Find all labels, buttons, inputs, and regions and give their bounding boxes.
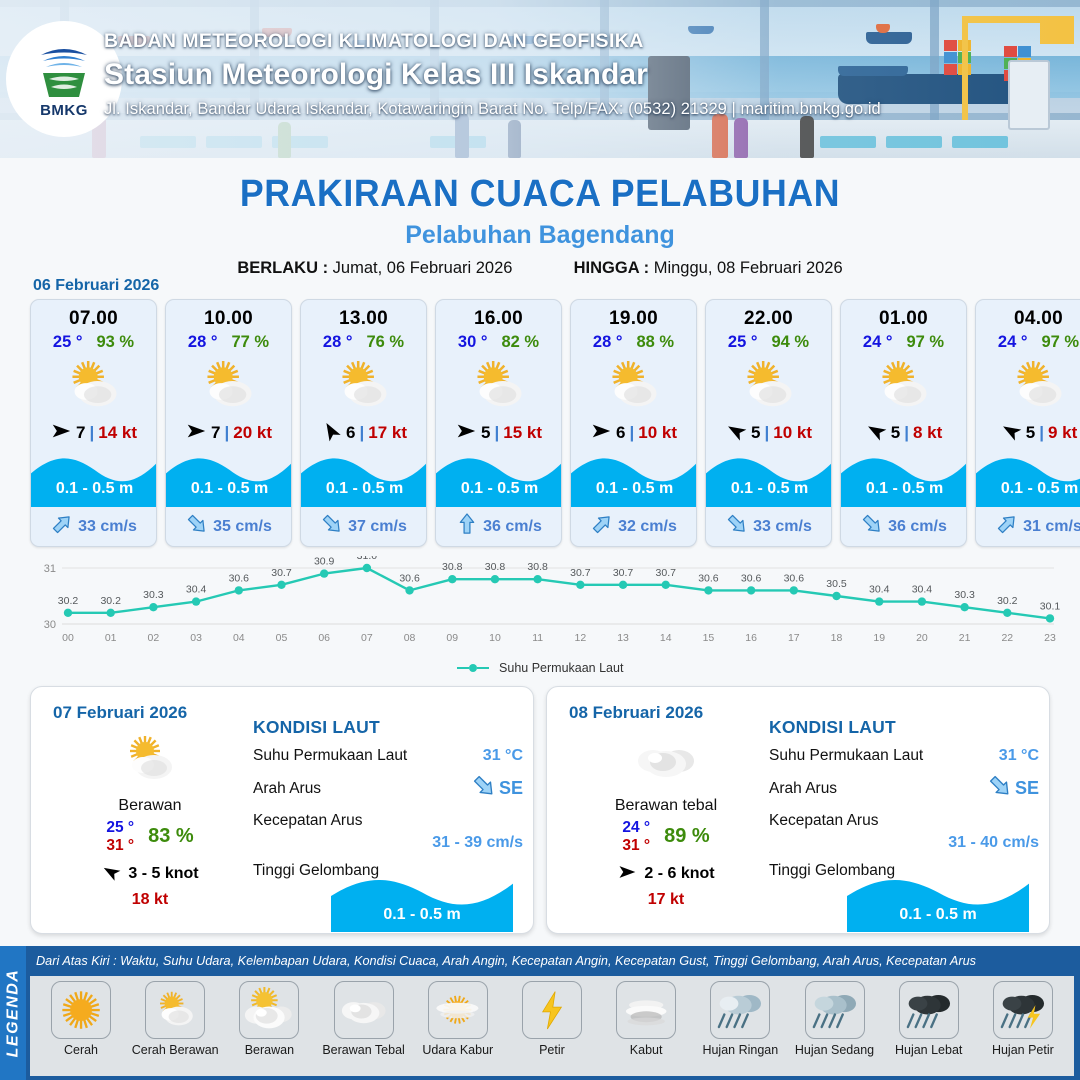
card-humidity: 94 % <box>771 333 809 352</box>
current-speed-value: 31 - 40 cm/s <box>769 834 1039 852</box>
daily-condition: Berawan <box>45 797 255 815</box>
legend-item-label: Udara Kabur <box>413 1043 503 1057</box>
svg-text:30.6: 30.6 <box>229 572 250 584</box>
hourly-card: 19.00 28 ° 88 % 6 | 10 kt 0.1 - 0.5 m 32… <box>570 299 697 547</box>
card-wind-speed: 5 <box>891 423 900 443</box>
card-current-speed: 33 cm/s <box>78 518 137 536</box>
card-temperature: 30 ° <box>458 333 488 352</box>
card-separator: | <box>89 423 94 443</box>
legend-items: Cerah Cerah Berawan Berawan Berawan Teba… <box>30 976 1074 1076</box>
daily-temp-min: 24 ° <box>622 819 650 837</box>
daily-temp-max: 31 ° <box>622 837 650 855</box>
legend-side-label: LEGENDA <box>4 969 22 1058</box>
svg-text:30.8: 30.8 <box>442 561 463 573</box>
card-gust: 14 kt <box>98 423 137 443</box>
legend-item: Berawan <box>224 981 314 1057</box>
sst-value: 31 °C <box>483 747 523 765</box>
legend-side-tab: LEGENDA <box>0 946 26 1080</box>
legend-item-label: Berawan Tebal <box>319 1043 409 1057</box>
hourly-card: 07.00 25 ° 93 % 7 | 14 kt 0.1 - 0.5 m 33… <box>30 299 157 547</box>
card-humidity: 97 % <box>906 333 944 352</box>
wave-graphic <box>436 449 562 507</box>
current-direction-icon <box>322 513 342 540</box>
svg-text:30.4: 30.4 <box>869 584 890 596</box>
wind-direction-icon <box>320 420 342 447</box>
svg-text:23: 23 <box>1044 632 1056 644</box>
cerah-berawan-icon <box>45 729 255 791</box>
card-temperature: 25 ° <box>728 333 758 352</box>
berawan-tebal-icon <box>334 981 394 1039</box>
bmkg-logo-icon <box>35 39 93 101</box>
current-direction-icon <box>52 513 72 540</box>
svg-text:30.2: 30.2 <box>997 595 1018 607</box>
hourly-card: 04.00 24 ° 97 % 5 | 9 kt 0.1 - 0.5 m 31 … <box>975 299 1080 547</box>
current-direction-icon <box>592 513 612 540</box>
svg-text:02: 02 <box>148 632 160 644</box>
svg-text:30.2: 30.2 <box>100 595 121 607</box>
sst-value: 31 °C <box>999 747 1039 765</box>
svg-text:30.6: 30.6 <box>698 572 719 584</box>
svg-text:31.0: 31.0 <box>357 556 378 562</box>
hujan-petir-icon <box>993 981 1053 1039</box>
current-direction-icon <box>457 513 477 540</box>
station-address: Jl. Iskandar, Bandar Udara Iskandar, Kot… <box>104 100 984 119</box>
daily-forecast-card: 07 Februari 2026 Berawan 25 ° 31 ° 83 % … <box>30 686 534 934</box>
current-direction-value: SE <box>473 774 523 803</box>
wind-direction-icon <box>1000 420 1022 447</box>
card-gust: 20 kt <box>233 423 272 443</box>
card-separator: | <box>359 423 364 443</box>
sea-condition-title: KONDISI LAUT <box>769 717 1039 738</box>
card-time: 16.00 <box>436 308 561 330</box>
svg-text:30.9: 30.9 <box>314 556 335 568</box>
wind-direction-icon <box>185 420 207 447</box>
svg-text:30.6: 30.6 <box>399 572 420 584</box>
daily-humidity: 83 % <box>148 825 194 848</box>
station-name: Stasiun Meteorologi Kelas III Iskandar <box>104 58 984 92</box>
current-direction-label: Arah Arus <box>253 780 321 798</box>
svg-text:00: 00 <box>62 632 74 644</box>
wave-graphic <box>976 449 1080 507</box>
petir-icon <box>522 981 582 1039</box>
svg-text:14: 14 <box>660 632 672 644</box>
wind-direction-icon <box>725 420 747 447</box>
svg-text:19: 19 <box>873 632 885 644</box>
current-speed-label: Kecepatan Arus <box>253 812 362 830</box>
hourly-card: 13.00 28 ° 76 % 6 | 17 kt 0.1 - 0.5 m 37… <box>300 299 427 547</box>
svg-text:13: 13 <box>617 632 629 644</box>
card-humidity: 88 % <box>636 333 674 352</box>
card-wind-speed: 5 <box>1026 423 1035 443</box>
current-direction-icon <box>997 513 1017 540</box>
daily-date: 08 Februari 2026 <box>569 703 703 723</box>
daily-wind-range: 3 - 5 knot <box>128 865 198 883</box>
daily-gust: 18 kt <box>45 891 255 909</box>
legend-item: Hujan Petir <box>978 981 1068 1057</box>
svg-text:30.7: 30.7 <box>271 567 292 579</box>
hourly-card: 01.00 24 ° 97 % 5 | 8 kt 0.1 - 0.5 m 36 … <box>840 299 967 547</box>
card-wave-height: 0.1 - 0.5 m <box>436 480 562 498</box>
card-humidity: 76 % <box>366 333 404 352</box>
card-temperature: 28 ° <box>593 333 623 352</box>
legend-item-label: Hujan Ringan <box>695 1043 785 1057</box>
hujan-sedang-icon <box>805 981 865 1039</box>
legend-line-icon-2 <box>477 667 489 669</box>
legend-item: Petir <box>507 981 597 1057</box>
valid-from-label: BERLAKU : <box>237 259 328 277</box>
svg-text:30.6: 30.6 <box>784 572 805 584</box>
card-humidity: 77 % <box>231 333 269 352</box>
card-humidity: 93 % <box>96 333 134 352</box>
legend-item: Hujan Sedang <box>790 981 880 1057</box>
card-time: 10.00 <box>166 308 291 330</box>
svg-text:30.6: 30.6 <box>741 572 762 584</box>
legend-dot-icon <box>469 664 477 672</box>
card-temperature: 24 ° <box>863 333 893 352</box>
daily-wave-height: 0.1 - 0.5 m <box>847 906 1029 924</box>
svg-text:30.3: 30.3 <box>954 589 975 601</box>
svg-text:30.7: 30.7 <box>613 567 634 579</box>
cerah-berawan-icon <box>706 355 831 417</box>
cerah-berawan-icon <box>145 981 205 1039</box>
sst-label: Suhu Permukaan Laut <box>769 747 923 765</box>
card-time: 04.00 <box>976 308 1080 330</box>
cerah-berawan-icon <box>166 355 291 417</box>
daily-temp-max: 31 ° <box>106 837 134 855</box>
card-gust: 17 kt <box>368 423 407 443</box>
valid-until-label: HINGGA : <box>574 259 649 277</box>
hourly-card: 22.00 25 ° 94 % 5 | 10 kt 0.1 - 0.5 m 33… <box>705 299 832 547</box>
agency-name: BADAN METEOROLOGI KLIMATOLOGI DAN GEOFIS… <box>104 30 984 53</box>
card-temperature: 25 ° <box>53 333 83 352</box>
legend-item-label: Cerah Berawan <box>130 1043 220 1057</box>
card-time: 01.00 <box>841 308 966 330</box>
legend-item: Kabut <box>601 981 691 1057</box>
svg-text:30.4: 30.4 <box>186 584 207 596</box>
kabut-icon <box>616 981 676 1039</box>
legend-section: LEGENDA Dari Atas Kiri : Waktu, Suhu Uda… <box>0 946 1080 1080</box>
card-wave-height: 0.1 - 0.5 m <box>706 480 832 498</box>
berawan-tebal-icon <box>561 729 771 791</box>
chart-legend-label: Suhu Permukaan Laut <box>499 661 623 675</box>
svg-text:18: 18 <box>831 632 843 644</box>
card-wind-speed: 6 <box>346 423 355 443</box>
daily-temp-min: 25 ° <box>106 819 134 837</box>
sst-chart: 303130.20030.20130.30230.40330.60430.705… <box>20 556 1062 656</box>
daily-humidity: 89 % <box>664 825 710 848</box>
sea-condition-title: KONDISI LAUT <box>253 717 523 738</box>
card-wave-height: 0.1 - 0.5 m <box>166 480 292 498</box>
cerah-berawan-icon <box>841 355 966 417</box>
legend-item-label: Hujan Lebat <box>884 1043 974 1057</box>
daily-wave-height: 0.1 - 0.5 m <box>331 906 513 924</box>
wind-direction-icon <box>50 420 72 447</box>
card-separator: | <box>1039 423 1044 443</box>
current-direction-icon <box>727 513 747 540</box>
svg-text:04: 04 <box>233 632 245 644</box>
current-direction-icon <box>473 774 495 803</box>
card-time: 22.00 <box>706 308 831 330</box>
legend-item: Hujan Ringan <box>695 981 785 1057</box>
hourly-card: 16.00 30 ° 82 % 5 | 15 kt 0.1 - 0.5 m 36… <box>435 299 562 547</box>
legend-item-label: Kabut <box>601 1043 691 1057</box>
card-wave-height: 0.1 - 0.5 m <box>841 480 967 498</box>
card-separator: | <box>224 423 229 443</box>
card-separator: | <box>494 423 499 443</box>
card-wind-speed: 5 <box>481 423 490 443</box>
card-time: 19.00 <box>571 308 696 330</box>
legend-item: Berawan Tebal <box>319 981 409 1057</box>
valid-until-value: Minggu, 08 Februari 2026 <box>654 259 843 277</box>
current-direction-icon <box>862 513 882 540</box>
svg-text:15: 15 <box>703 632 715 644</box>
card-wave-height: 0.1 - 0.5 m <box>301 480 427 498</box>
cerah-icon <box>51 981 111 1039</box>
svg-text:30.3: 30.3 <box>143 589 164 601</box>
card-gust: 15 kt <box>503 423 542 443</box>
cerah-berawan-icon <box>976 355 1080 417</box>
page-header: BMKG BADAN METEOROLOGI KLIMATOLOGI DAN G… <box>0 0 1080 158</box>
daily-condition: Berawan tebal <box>561 797 771 815</box>
card-current-speed: 35 cm/s <box>213 518 272 536</box>
card-current-speed: 36 cm/s <box>888 518 947 536</box>
wind-direction-icon <box>455 420 477 447</box>
daily-forecast-row: 07 Februari 2026 Berawan 25 ° 31 ° 83 % … <box>30 686 1050 934</box>
wind-direction-icon <box>865 420 887 447</box>
svg-text:12: 12 <box>575 632 587 644</box>
card-gust: 10 kt <box>638 423 677 443</box>
card-separator: | <box>764 423 769 443</box>
svg-text:30.1: 30.1 <box>1040 600 1061 612</box>
svg-text:09: 09 <box>446 632 458 644</box>
card-separator: | <box>904 423 909 443</box>
card-current-speed: 31 cm/s <box>1023 518 1080 536</box>
card-temperature: 28 ° <box>188 333 218 352</box>
card-wind-speed: 5 <box>751 423 760 443</box>
wave-graphic <box>166 449 292 507</box>
wave-graphic <box>706 449 832 507</box>
svg-text:30.5: 30.5 <box>826 578 847 590</box>
port-name: Pelabuhan Bagendang <box>0 221 1080 250</box>
wave-graphic <box>301 449 427 507</box>
svg-text:06: 06 <box>318 632 330 644</box>
cerah-berawan-icon <box>571 355 696 417</box>
svg-text:16: 16 <box>745 632 757 644</box>
berawan-icon <box>239 981 299 1039</box>
svg-text:22: 22 <box>1001 632 1013 644</box>
current-direction-value: SE <box>989 774 1039 803</box>
sst-label: Suhu Permukaan Laut <box>253 747 407 765</box>
svg-text:30.8: 30.8 <box>527 561 548 573</box>
svg-text:07: 07 <box>361 632 373 644</box>
card-current-speed: 32 cm/s <box>618 518 677 536</box>
validity-row: BERLAKU : Jumat, 06 Februari 2026 HINGGA… <box>0 259 1080 278</box>
svg-text:30.2: 30.2 <box>58 595 79 607</box>
svg-text:11: 11 <box>532 632 543 644</box>
card-current-speed: 36 cm/s <box>483 518 542 536</box>
title-block: PRAKIRAAN CUACA PELABUHAN Pelabuhan Bage… <box>0 158 1080 278</box>
legend-item-label: Cerah <box>36 1043 126 1057</box>
legend-item: Hujan Lebat <box>884 981 974 1057</box>
hujan-lebat-icon <box>899 981 959 1039</box>
legend-note: Dari Atas Kiri : Waktu, Suhu Udara, Kele… <box>36 954 976 968</box>
hujan-ringan-icon <box>710 981 770 1039</box>
valid-from-value: Jumat, 06 Februari 2026 <box>333 259 513 277</box>
legend-line-icon <box>457 667 469 669</box>
wave-graphic <box>841 449 967 507</box>
daily-date: 07 Februari 2026 <box>53 703 187 723</box>
svg-text:31: 31 <box>44 563 56 575</box>
card-separator: | <box>629 423 634 443</box>
bmkg-logo-text: BMKG <box>40 102 88 119</box>
svg-text:01: 01 <box>105 632 117 644</box>
card-temperature: 24 ° <box>998 333 1028 352</box>
daily-forecast-card: 08 Februari 2026 Berawan tebal 24 ° 31 °… <box>546 686 1050 934</box>
chart-legend: Suhu Permukaan Laut <box>0 660 1080 675</box>
hourly-card: 10.00 28 ° 77 % 7 | 20 kt 0.1 - 0.5 m 35… <box>165 299 292 547</box>
card-gust: 10 kt <box>773 423 812 443</box>
svg-text:20: 20 <box>916 632 928 644</box>
svg-text:30: 30 <box>44 619 56 631</box>
svg-text:08: 08 <box>404 632 416 644</box>
daily-wind-range: 2 - 6 knot <box>644 865 714 883</box>
legend-item-label: Hujan Petir <box>978 1043 1068 1057</box>
current-speed-value: 31 - 39 cm/s <box>253 834 523 852</box>
card-current-speed: 37 cm/s <box>348 518 407 536</box>
daily-wind-direction-icon <box>101 862 121 887</box>
cerah-berawan-icon <box>301 355 426 417</box>
cerah-berawan-icon <box>31 355 156 417</box>
card-wind-speed: 7 <box>76 423 85 443</box>
wave-graphic <box>31 449 157 507</box>
card-gust: 9 kt <box>1048 423 1077 443</box>
svg-text:10: 10 <box>489 632 501 644</box>
svg-text:17: 17 <box>788 632 800 644</box>
card-time: 13.00 <box>301 308 426 330</box>
current-direction-label: Arah Arus <box>769 780 837 798</box>
card-gust: 8 kt <box>913 423 942 443</box>
legend-item: Cerah <box>36 981 126 1057</box>
current-direction-icon <box>989 774 1011 803</box>
svg-text:30.4: 30.4 <box>912 584 933 596</box>
card-wind-speed: 6 <box>616 423 625 443</box>
wave-graphic <box>571 449 697 507</box>
card-wind-speed: 7 <box>211 423 220 443</box>
svg-text:21: 21 <box>959 632 971 644</box>
udara-kabur-icon <box>428 981 488 1039</box>
svg-text:05: 05 <box>276 632 288 644</box>
card-time: 07.00 <box>31 308 156 330</box>
daily-wind-direction-icon <box>617 862 637 887</box>
legend-item-label: Berawan <box>224 1043 314 1057</box>
card-wave-height: 0.1 - 0.5 m <box>31 480 157 498</box>
card-current-speed: 33 cm/s <box>753 518 812 536</box>
legend-item: Cerah Berawan <box>130 981 220 1057</box>
svg-text:30.7: 30.7 <box>656 567 677 579</box>
hourly-date-label: 06 Februari 2026 <box>33 277 159 295</box>
current-speed-label: Kecepatan Arus <box>769 812 878 830</box>
legend-item-label: Petir <box>507 1043 597 1057</box>
svg-text:03: 03 <box>190 632 202 644</box>
svg-text:30.7: 30.7 <box>570 567 591 579</box>
page-title: PRAKIRAAN CUACA PELABUHAN <box>32 173 1047 216</box>
legend-item: Udara Kabur <box>413 981 503 1057</box>
cerah-berawan-icon <box>436 355 561 417</box>
svg-text:30.8: 30.8 <box>485 561 506 573</box>
card-temperature: 28 ° <box>323 333 353 352</box>
current-direction-icon <box>187 513 207 540</box>
daily-gust: 17 kt <box>561 891 771 909</box>
card-wave-height: 0.1 - 0.5 m <box>976 480 1080 498</box>
wind-direction-icon <box>590 420 612 447</box>
legend-item-label: Hujan Sedang <box>790 1043 880 1057</box>
hourly-forecast-row: 07.00 25 ° 93 % 7 | 14 kt 0.1 - 0.5 m 33… <box>30 299 1080 547</box>
card-humidity: 97 % <box>1041 333 1079 352</box>
card-humidity: 82 % <box>501 333 539 352</box>
card-wave-height: 0.1 - 0.5 m <box>571 480 697 498</box>
